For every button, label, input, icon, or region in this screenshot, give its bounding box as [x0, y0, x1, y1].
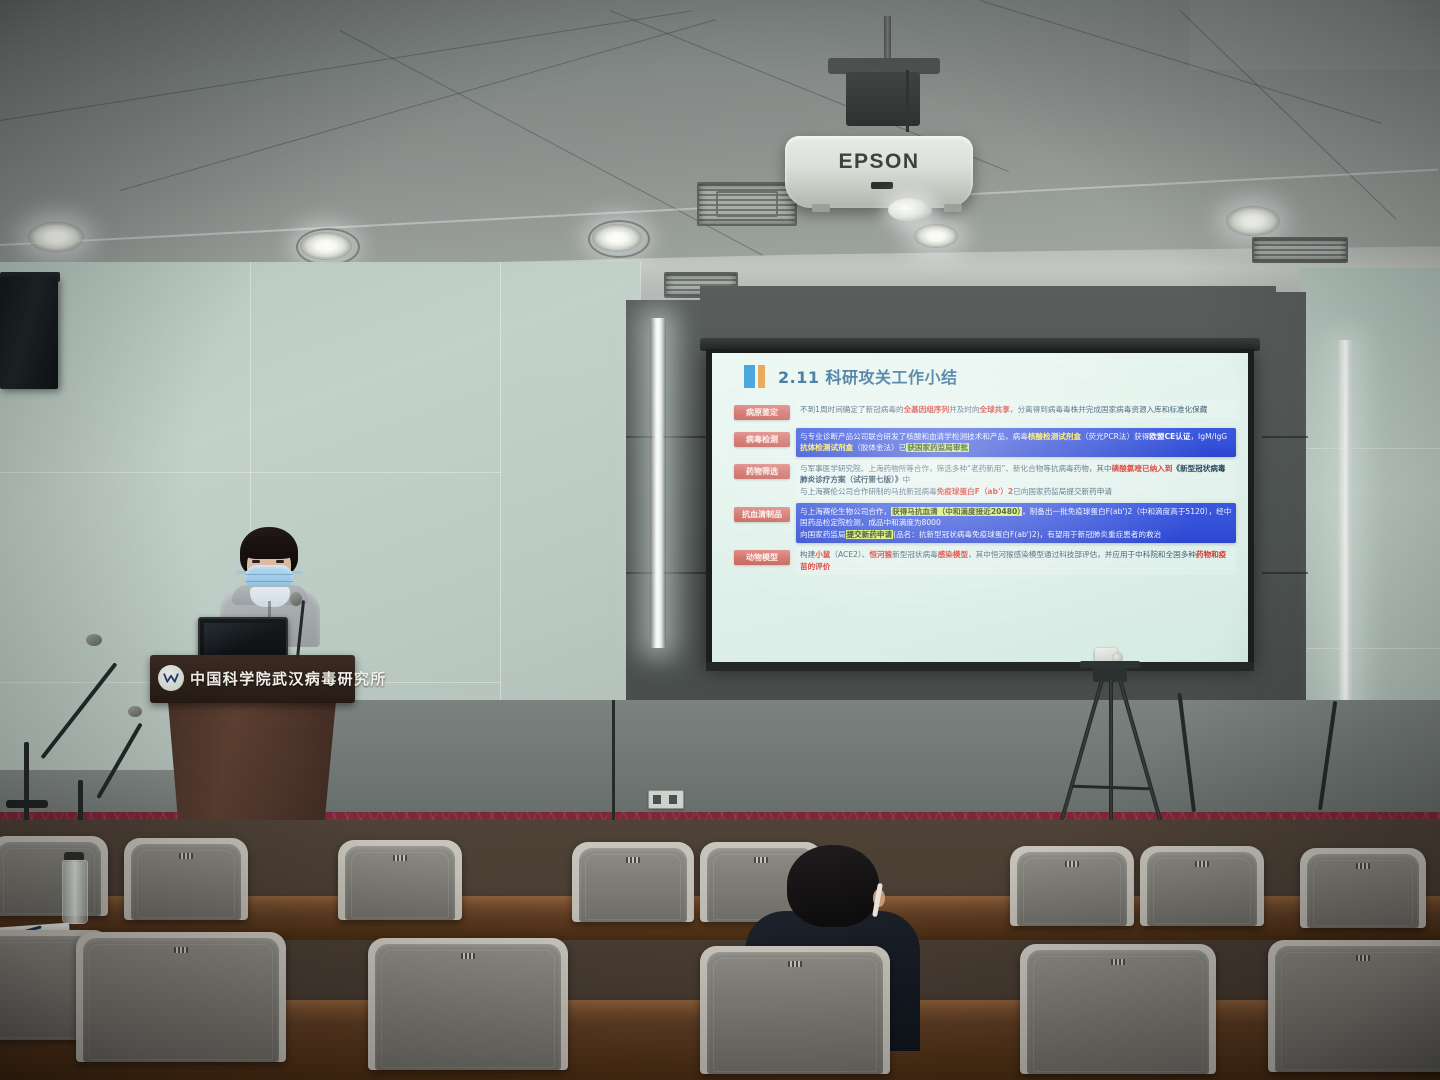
slide-accent-bar-blue	[744, 365, 755, 388]
panel-seam-3	[1262, 436, 1308, 438]
mic-stand-1-column	[24, 742, 29, 832]
ceiling-vent-1	[697, 182, 797, 226]
row-body: 构建小鼠（ACE2）、恒河猴新型冠状病毒感染模型，其中恒河猴感染模型通过科技部评…	[796, 546, 1236, 575]
mic-stand-1-base	[6, 800, 48, 808]
podium-nameplate: 中国科学院武汉病毒研究所	[150, 655, 355, 703]
seat[interactable]	[368, 938, 568, 1070]
dark-wall-panel-right	[1262, 292, 1306, 722]
seat[interactable]	[124, 838, 248, 920]
panel-seam-4	[1262, 572, 1308, 574]
seat[interactable]	[700, 946, 890, 1074]
projector-brand-label: EPSON	[785, 150, 973, 174]
presenter-eye-right	[276, 560, 284, 563]
wall-speaker	[0, 277, 58, 389]
floor-cable-3	[612, 700, 615, 830]
mic-stand-2-head	[128, 706, 142, 717]
laptop-screen	[204, 623, 282, 657]
row-tag: 病原鉴定	[734, 405, 790, 420]
podium-institute-name: 中国科学院武汉病毒研究所	[190, 668, 387, 689]
ceiling-light-1	[28, 222, 84, 252]
slide-row: 药物筛选 与军事医学研究院、上海药物所等合作，筛选多种“老药新用”、新化合物等抗…	[734, 460, 1236, 500]
wall-light-strip-left	[650, 318, 666, 648]
projector-foot-left	[812, 204, 830, 212]
projector-cable	[906, 70, 909, 132]
row-tag: 抗血清制品	[734, 507, 790, 522]
seat[interactable]	[0, 836, 108, 916]
row-body: 不到1周时间确定了新冠病毒的全基因组序列并及时向全球共享，分离得到病毒毒株并完成…	[796, 401, 1236, 418]
tripod-slider-rail	[1080, 661, 1140, 668]
slide-row: 动物模型 构建小鼠（ACE2）、恒河猴新型冠状病毒感染模型，其中恒河猴感染模型通…	[734, 546, 1236, 575]
ceiling-light-2-ring	[296, 228, 360, 266]
seat[interactable]	[338, 840, 462, 920]
row-tag: 动物模型	[734, 550, 790, 565]
presentation-slide: 2.11 科研攻关工作小结 病原鉴定 不到1周时间确定了新冠病毒的全基因组序列并…	[712, 353, 1248, 663]
stage-front-wall	[300, 700, 1440, 820]
screen-bottom-bar	[706, 662, 1254, 671]
projector-vent-slot	[871, 182, 893, 189]
ceiling-light-3-ring	[588, 220, 650, 258]
seat[interactable]	[1020, 944, 1216, 1074]
presenter-eye-left	[252, 560, 260, 563]
slide-row: 病毒检测 与专业诊断产品公司联合研发了核酸和血清学检测技术和产品，病毒核酸检测试…	[734, 428, 1236, 457]
projector-mount-pole	[884, 16, 891, 64]
ceiling-light-4	[1226, 206, 1280, 236]
slide-row: 病原鉴定 不到1周时间确定了新冠病毒的全基因组序列并及时向全球共享，分离得到病毒…	[734, 401, 1236, 425]
ceiling-vent-3	[1252, 237, 1348, 263]
projector-foot-right	[944, 204, 962, 212]
mic-stand-1-head	[86, 634, 102, 646]
projection-screen: 2.11 科研攻关工作小结 病原鉴定 不到1周时间确定了新冠病毒的全基因组序列并…	[712, 353, 1248, 663]
institute-logo-icon	[158, 665, 184, 691]
slide-title: 2.11 科研攻关工作小结	[778, 364, 958, 388]
presenter-fringe	[241, 535, 297, 559]
water-bottle	[62, 860, 88, 924]
slide-row: 抗血清制品 与上海赛伦生物公司合作，获得马抗血清（中和滴度接近20480），制备…	[734, 503, 1236, 543]
slide-rows: 病原鉴定 不到1周时间确定了新冠病毒的全基因组序列并及时向全球共享，分离得到病毒…	[734, 401, 1236, 578]
row-body: 与军事医学研究院、上海药物所等合作，筛选多种“老药新用”、新化合物等抗病毒药物，…	[796, 460, 1236, 500]
power-outlet-1	[648, 790, 684, 809]
seat[interactable]	[1300, 848, 1426, 928]
row-body: 与专业诊断产品公司联合研发了核酸和血清学检测技术和产品，病毒核酸检测试剂盒（荧光…	[796, 428, 1236, 457]
seat[interactable]	[1010, 846, 1134, 926]
seat[interactable]	[76, 932, 286, 1062]
seat[interactable]	[572, 842, 694, 922]
conference-room-photo: EPSON 2.11	[0, 0, 1440, 1080]
projector-lens	[888, 198, 932, 222]
row-body: 与上海赛伦生物公司合作，获得马抗血清（中和滴度接近20480），制备出一批免疫球…	[796, 503, 1236, 543]
ceiling-light-5	[914, 224, 958, 248]
seat[interactable]	[1140, 846, 1264, 926]
projector: EPSON	[785, 136, 973, 208]
slide-accent-bar-orange	[758, 365, 765, 388]
podium-microphone-head	[290, 592, 302, 606]
slide-header: 2.11 科研攻关工作小结	[726, 361, 1238, 391]
wall-light-strip-right	[1337, 340, 1354, 712]
audience-member-head	[787, 845, 879, 927]
seat[interactable]	[1268, 940, 1440, 1072]
row-tag: 药物筛选	[734, 464, 790, 479]
row-tag: 病毒检测	[734, 432, 790, 447]
